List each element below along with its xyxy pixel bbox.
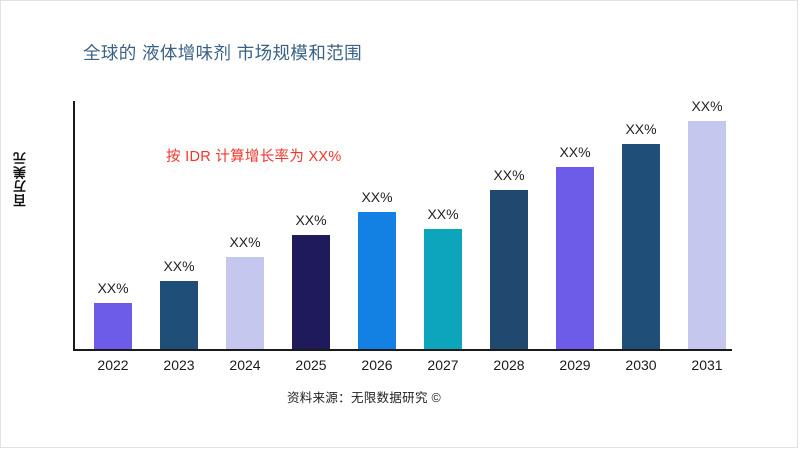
plot-area: XX%XX%XX%XX%XX%XX%XX%XX%XX%XX% — [73, 101, 733, 351]
bar[interactable] — [424, 229, 462, 349]
bar-group[interactable]: XX% — [622, 144, 660, 349]
x-axis-tick-labels: 2022202320242025202620272028202920302031 — [73, 357, 733, 377]
bar[interactable] — [358, 212, 396, 349]
bar[interactable] — [622, 144, 660, 349]
bar-group[interactable]: XX% — [94, 303, 132, 349]
bar[interactable] — [160, 281, 198, 349]
bar[interactable] — [556, 167, 594, 349]
bar-value-label: XX% — [625, 121, 656, 137]
page-title: 全球的 液体增味剂 市场规模和范围 — [83, 40, 362, 65]
bar[interactable] — [688, 121, 726, 349]
bar-value-label: XX% — [97, 280, 128, 296]
bar-value-label: XX% — [229, 234, 260, 250]
x-axis-tick-2027: 2027 — [408, 357, 478, 373]
source-note: 资料来源：无限数据研究 © — [1, 387, 797, 406]
bar-group[interactable]: XX% — [556, 167, 594, 349]
bar-group[interactable]: XX% — [424, 229, 462, 349]
bar-group[interactable]: XX% — [160, 281, 198, 349]
x-axis-tick-2025: 2025 — [276, 357, 346, 373]
y-axis-label: 百万美元 — [11, 151, 33, 207]
bar[interactable] — [226, 257, 264, 349]
bar-value-label: XX% — [559, 144, 590, 160]
bar-group[interactable]: XX% — [292, 235, 330, 349]
x-axis-tick-2024: 2024 — [210, 357, 280, 373]
x-axis-tick-2023: 2023 — [144, 357, 214, 373]
chart-canvas: 全球的 液体增味剂 市场规模和范围 百万美元 XX%XX%XX%XX%XX%XX… — [0, 0, 798, 448]
x-axis-tick-2031: 2031 — [672, 357, 742, 373]
x-axis-tick-2026: 2026 — [342, 357, 412, 373]
bar-group[interactable]: XX% — [226, 257, 264, 349]
bar-group[interactable]: XX% — [358, 212, 396, 349]
bar-group[interactable]: XX% — [490, 190, 528, 349]
y-axis-line — [73, 101, 75, 351]
growth-rate-annotation: 按 IDR 计算增长率为 XX% — [166, 145, 342, 166]
bar-value-label: XX% — [493, 167, 524, 183]
bar-value-label: XX% — [361, 189, 392, 205]
bar-value-label: XX% — [427, 206, 458, 222]
x-axis-tick-2029: 2029 — [540, 357, 610, 373]
x-axis-tick-2030: 2030 — [606, 357, 676, 373]
bar[interactable] — [94, 303, 132, 349]
x-axis-line — [73, 349, 732, 351]
bar-value-label: XX% — [691, 98, 722, 114]
bar-group[interactable]: XX% — [688, 121, 726, 349]
x-axis-tick-2028: 2028 — [474, 357, 544, 373]
bar[interactable] — [490, 190, 528, 349]
bar-value-label: XX% — [163, 258, 194, 274]
bar[interactable] — [292, 235, 330, 349]
bar-value-label: XX% — [295, 212, 326, 228]
x-axis-tick-2022: 2022 — [78, 357, 148, 373]
